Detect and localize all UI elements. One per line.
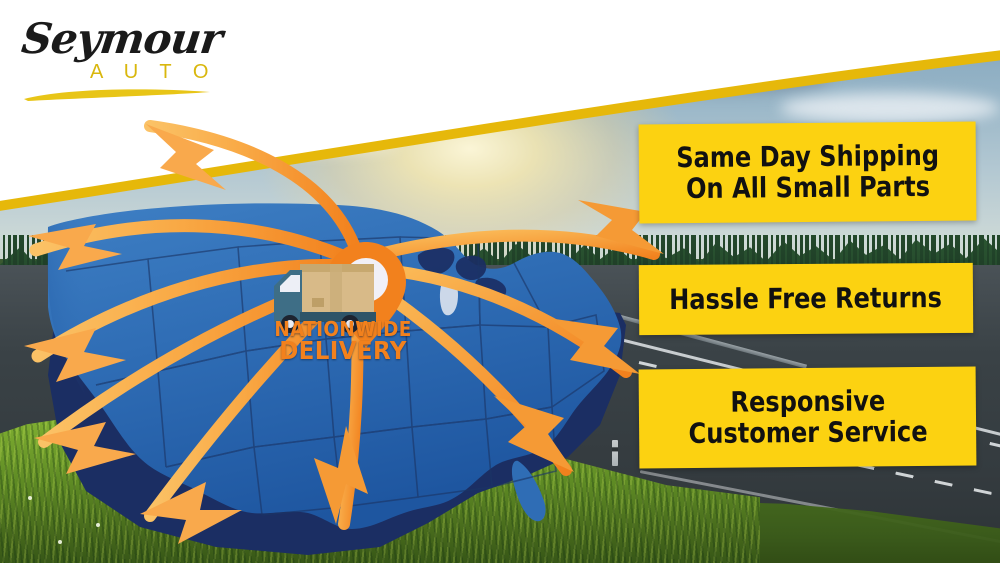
banner-line: Hassle Free Returns — [670, 284, 943, 314]
logo[interactable]: Seymour A U T O — [18, 14, 223, 98]
arrow-head — [548, 318, 640, 374]
banner-line: Customer Service — [688, 416, 927, 449]
nationwide-delivery-label: NATIONWIDE DELIVERY — [258, 320, 428, 363]
banner-responsive-customer-service[interactable]: Responsive Customer Service — [639, 367, 977, 469]
logo-wordmark: Seymour — [19, 14, 225, 63]
promo-banner: Seymour A U T O — [0, 0, 1000, 563]
arrow-head — [140, 482, 242, 544]
logo-swoosh-icon — [22, 86, 212, 102]
banner-line: Responsive — [730, 386, 885, 418]
banner-hassle-free-returns[interactable]: Hassle Free Returns — [639, 263, 973, 335]
arrow-head — [494, 396, 574, 472]
cardboard-box — [300, 264, 374, 316]
arrow-head — [34, 422, 136, 474]
banner-same-day-shipping[interactable]: Same Day Shipping On All Small Parts — [639, 122, 977, 224]
banner-line: On All Small Parts — [685, 171, 929, 204]
logo-subtitle: A U T O — [90, 61, 216, 84]
label-line-2: DELIVERY — [265, 339, 421, 363]
